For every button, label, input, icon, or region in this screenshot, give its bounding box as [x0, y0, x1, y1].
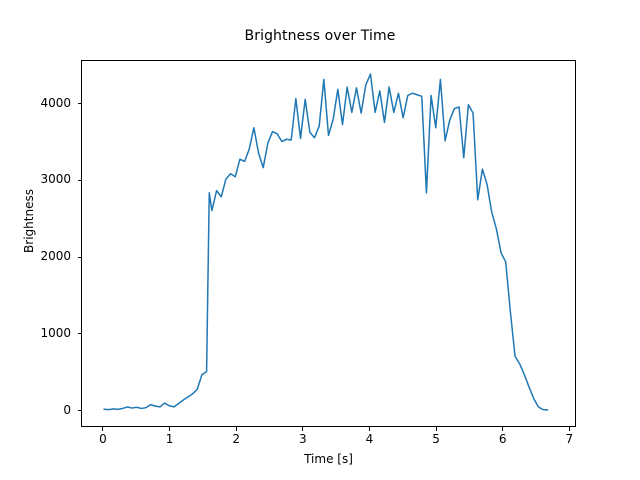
y-tick-label: 4000 [11, 96, 71, 110]
x-tick-label: 1 [150, 432, 190, 446]
plot-area [81, 60, 576, 427]
y-axis-label: Brightness [22, 121, 36, 321]
x-tick-label: 0 [83, 432, 123, 446]
x-tick-label: 5 [416, 432, 456, 446]
brightness-line [104, 74, 548, 410]
x-tick-label: 6 [483, 432, 523, 446]
y-tick-label: 1000 [11, 326, 71, 340]
line-series-svg [82, 61, 577, 428]
figure-canvas: Brightness over Time Brightness Time [s]… [0, 0, 640, 480]
x-tick-label: 3 [283, 432, 323, 446]
y-tick-label: 2000 [11, 249, 71, 263]
chart-title: Brightness over Time [0, 28, 640, 44]
x-tick-label: 4 [349, 432, 389, 446]
y-tick-label: 3000 [11, 172, 71, 186]
y-tick-label: 0 [11, 403, 71, 417]
x-tick-label: 7 [549, 432, 589, 446]
x-tick-label: 2 [216, 432, 256, 446]
x-axis-label: Time [s] [81, 452, 576, 466]
